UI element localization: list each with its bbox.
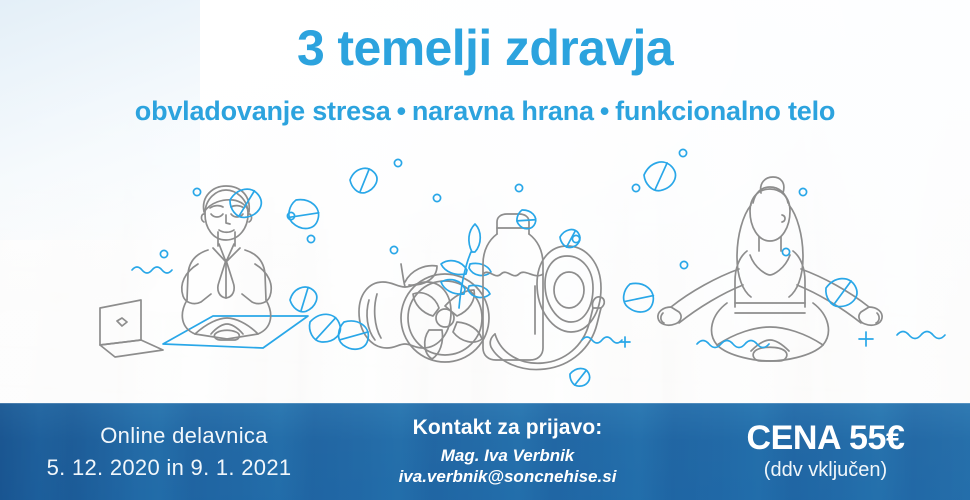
circle-dot-icon: [307, 235, 314, 242]
leaf-icon: [335, 317, 372, 352]
decorative-elements: [0, 140, 970, 400]
circle-dot-icon: [799, 188, 806, 195]
footer-event-info: Online delavnica 5. 12. 2020 in 9. 1. 20…: [0, 423, 330, 481]
leaf-icon: [226, 184, 265, 222]
footer-price-info: CENA 55€ (ddv vključen): [685, 421, 970, 482]
vat-note-label: (ddv vključen): [685, 459, 966, 482]
leaf-icon: [307, 311, 343, 345]
promo-banner: 3 temelji zdravja obvladovanje stresa•na…: [0, 0, 970, 500]
circle-dot-icon: [680, 261, 687, 268]
circle-dot-icon: [782, 248, 789, 255]
circle-dot-icon: [433, 194, 440, 201]
circle-dot-icon: [632, 184, 639, 191]
price-label: CENA 55€: [685, 421, 966, 455]
wave-line-icon: [697, 341, 769, 348]
subtitle-separator: •: [391, 96, 412, 126]
circle-dot-icon: [160, 250, 167, 257]
leaf-icon: [284, 195, 323, 233]
contact-name-label: Mag. Iva Verbnik: [330, 445, 685, 467]
event-dates-label: 5. 12. 2020 in 9. 1. 2021: [8, 455, 330, 481]
plus-mark-icon: [859, 332, 873, 346]
circle-dot-icon: [193, 188, 200, 195]
subtitle-part-3: funkcionalno telo: [615, 96, 835, 126]
subtitle-separator: •: [594, 96, 615, 126]
leaf-icon: [568, 366, 592, 389]
leaf-icon: [558, 226, 583, 250]
leaf-icon: [640, 157, 680, 196]
wave-line-icon: [897, 332, 945, 339]
footer-bar: Online delavnica 5. 12. 2020 in 9. 1. 20…: [0, 403, 970, 500]
leaf-icon: [619, 279, 657, 316]
leaf-icon: [823, 274, 861, 310]
circle-dot-icon: [679, 149, 686, 156]
circle-dot-icon: [394, 159, 401, 166]
page-title: 3 temelji zdravja: [0, 22, 970, 74]
page-subtitle: obvladovanje stresa•naravna hrana•funkci…: [0, 96, 970, 127]
wave-line-icon: [132, 267, 172, 273]
event-type-label: Online delavnica: [8, 423, 330, 449]
subtitle-part-1: obvladovanje stresa: [135, 96, 391, 126]
circle-dot-icon: [515, 184, 522, 191]
circle-dot-icon: [390, 246, 397, 253]
footer-contact-info: Kontakt za prijavo: Mag. Iva Verbnik iva…: [330, 415, 685, 488]
wave-line-icon: [582, 337, 622, 343]
headline-block: 3 temelji zdravja obvladovanje stresa•na…: [0, 22, 970, 127]
contact-title-label: Kontakt za prijavo:: [330, 415, 685, 442]
leaf-icon: [287, 282, 322, 317]
subtitle-part-2: naravna hrana: [412, 96, 594, 126]
leaf-icon: [514, 207, 539, 232]
leaf-icon: [347, 163, 382, 197]
plus-mark-icon: [620, 337, 630, 347]
contact-email-link[interactable]: iva.verbnik@soncnehise.si: [330, 466, 685, 488]
